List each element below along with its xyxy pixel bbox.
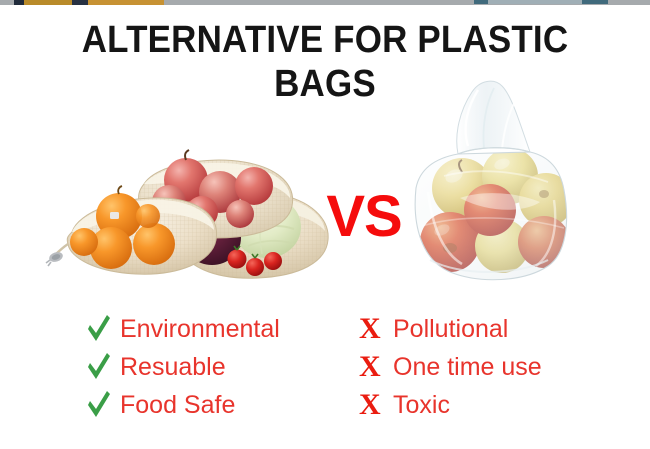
tomato	[246, 258, 264, 276]
list-item-label: Resuable	[120, 353, 226, 381]
list-item: X Toxic	[358, 386, 588, 424]
list-item: Resuable	[86, 348, 316, 386]
chrome-left-fragment	[14, 0, 164, 5]
orange	[133, 223, 175, 265]
list-item-label: Toxic	[393, 391, 450, 419]
orange	[136, 204, 160, 228]
tomato	[264, 252, 282, 270]
apple	[235, 167, 273, 205]
cross-icon: X	[358, 314, 393, 344]
tomato	[228, 250, 247, 269]
check-icon	[86, 391, 120, 419]
orange	[70, 228, 98, 256]
versus-label: VS	[326, 188, 402, 246]
list-item: X One time use	[358, 348, 588, 386]
plastic-bag-of-apples-photo	[398, 76, 576, 290]
chrome-right-fragment	[474, 0, 608, 4]
list-item: X Pollutional	[358, 310, 588, 348]
check-icon	[86, 315, 120, 343]
list-item-label: Pollutional	[393, 315, 508, 343]
reusable-mesh-produce-bags-photo	[44, 128, 340, 290]
cross-icon: X	[358, 390, 393, 420]
list-item-label: One time use	[393, 353, 542, 381]
list-item: Food Safe	[86, 386, 316, 424]
drawstring-cord-lock	[46, 244, 68, 266]
fruit-sticker	[110, 212, 119, 219]
apple	[226, 200, 254, 228]
cons-list: X Pollutional X One time use X Toxic	[358, 310, 588, 424]
slide-canvas: ALTERNATIVE FOR PLASTIC BAGS	[0, 0, 650, 449]
list-item-label: Environmental	[120, 315, 280, 343]
list-item: Environmental	[86, 310, 316, 348]
list-item-label: Food Safe	[120, 391, 235, 419]
cross-icon: X	[358, 352, 393, 382]
cropped-window-chrome-strip	[0, 0, 650, 5]
pros-list: Environmental Resuable Food Safe	[86, 310, 316, 424]
check-icon	[86, 353, 120, 381]
